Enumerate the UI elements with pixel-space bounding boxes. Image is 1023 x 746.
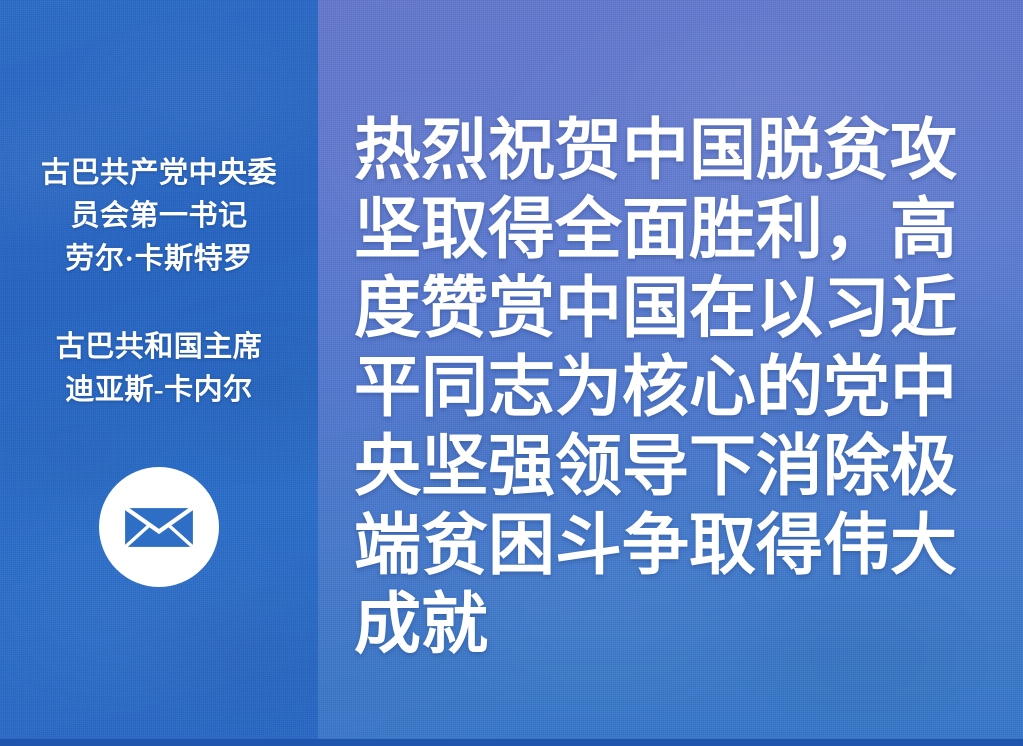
envelope-icon — [98, 466, 220, 588]
credit-block-president: 古巴共和国主席 迪亚斯-卡内尔 — [0, 326, 318, 412]
credit-line: 古巴共和国主席 — [0, 326, 318, 369]
credit-line: 员会第一书记 — [0, 195, 318, 238]
credit-block-party-first-secretary: 古巴共产党中央委 员会第一书记 劳尔·卡斯特罗 — [0, 152, 318, 281]
credit-line: 劳尔·卡斯特罗 — [0, 238, 318, 281]
right-message-panel: 热烈祝贺中国脱贫攻坚取得全面胜利，高度赞赏中国在以习近平同志为核心的党中央坚强领… — [318, 0, 1023, 746]
left-panel-content: 古巴共产党中央委 员会第一书记 劳尔·卡斯特罗 古巴共和国主席 迪亚斯-卡内尔 — [0, 152, 318, 588]
credit-line: 迪亚斯-卡内尔 — [0, 369, 318, 412]
headline-message: 热烈祝贺中国脱贫攻坚取得全面胜利，高度赞赏中国在以习近平同志为核心的党中央坚强领… — [354, 112, 989, 665]
envelope-icon-container — [98, 466, 220, 588]
poster-root: 古巴共产党中央委 员会第一书记 劳尔·卡斯特罗 古巴共和国主席 迪亚斯-卡内尔 — [0, 0, 1023, 746]
bottom-accent-band — [0, 739, 1023, 746]
left-attribution-panel: 古巴共产党中央委 员会第一书记 劳尔·卡斯特罗 古巴共和国主席 迪亚斯-卡内尔 — [0, 0, 318, 746]
credit-line: 古巴共产党中央委 — [0, 152, 318, 195]
